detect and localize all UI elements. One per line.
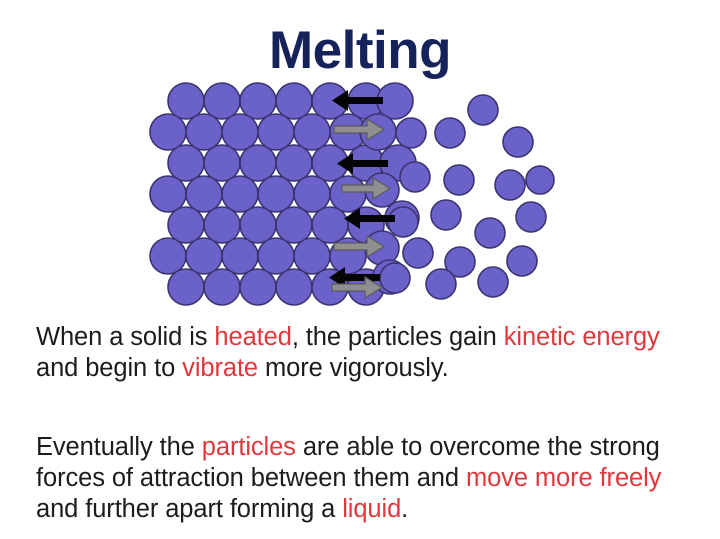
paragraph-melting: Eventually the particles are able to ove… bbox=[36, 432, 691, 525]
body-text-run: more vigorously. bbox=[258, 354, 449, 382]
particle-diagram-svg: #diagram circle { fill: #6a62c8; stroke:… bbox=[150, 85, 550, 290]
liquid-particles-group bbox=[380, 95, 554, 299]
body-text-run: Eventually the bbox=[36, 433, 202, 461]
body-text-run: . bbox=[401, 495, 408, 523]
solid-lattice-group bbox=[150, 83, 384, 305]
highlighted-term: heated bbox=[214, 323, 291, 351]
body-text-run: When a solid is bbox=[36, 323, 214, 351]
highlighted-term: move more freely bbox=[466, 464, 661, 492]
paragraph-heating: When a solid is heated, the particles ga… bbox=[36, 322, 691, 384]
page-title: Melting bbox=[0, 22, 720, 80]
melting-particle-diagram: #diagram circle { fill: #6a62c8; stroke:… bbox=[150, 85, 550, 290]
body-text-run: and further apart forming a bbox=[36, 495, 342, 523]
highlighted-term: particles bbox=[202, 433, 296, 461]
highlighted-term: vibrate bbox=[182, 354, 258, 382]
body-text-run: and begin to bbox=[36, 354, 182, 382]
highlighted-term: liquid bbox=[342, 495, 401, 523]
body-text-run: , the particles gain bbox=[292, 323, 504, 351]
highlighted-term: kinetic energy bbox=[504, 323, 660, 351]
slide-canvas: Melting bbox=[0, 0, 720, 539]
